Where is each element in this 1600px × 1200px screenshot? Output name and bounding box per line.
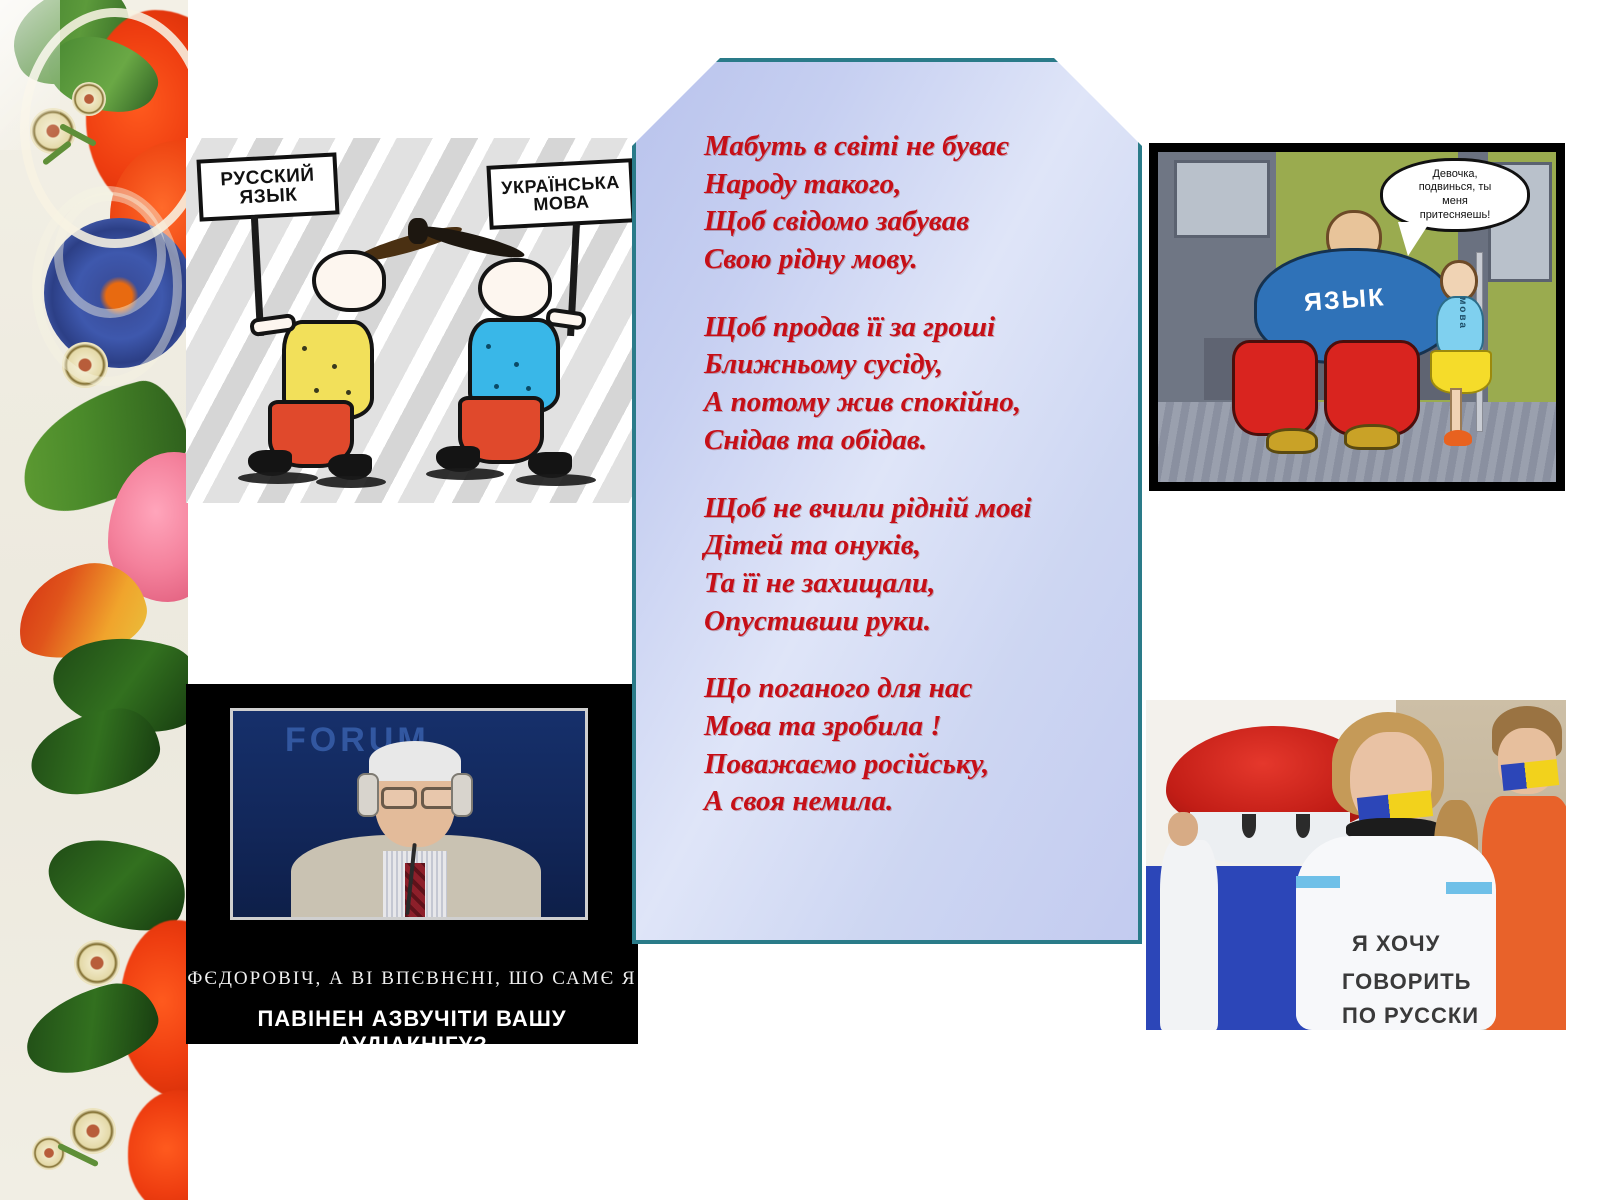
poem-callout-box: Мабуть в світі не буває Народу такого, Щ…	[632, 58, 1142, 944]
man-pants	[1232, 340, 1318, 436]
figure-shadow	[426, 468, 504, 480]
subway-language-cartoon: ЯЗЫК мова Девочка, подвинься, ты меня пр…	[1149, 143, 1565, 491]
poem-text-container: Мабуть в світі не буває Народу такого, Щ…	[636, 128, 1138, 821]
petrykivka-floral-border	[0, 0, 188, 1200]
demotivator-caption-line1: ФЄДОРОВІЧ, А ВІ ВПЄВНЄНІ, ШО САМЄ Я	[186, 968, 638, 990]
figure-shadow	[516, 474, 596, 486]
man-shoe	[1266, 428, 1318, 454]
figure-shadow	[238, 472, 318, 484]
bystander	[1160, 840, 1218, 1030]
shirt-label-yazyk: ЯЗЫК	[1303, 283, 1386, 318]
mustache-knot	[408, 218, 428, 244]
sleeve-stripe	[1296, 876, 1340, 888]
shirt-text-line2: ГОВОРИТЬ	[1342, 970, 1471, 993]
azarov-demotivator: FORUM ФЄДОРОВІЧ, А ВІ ВПЄВНЄНІ, ШО САМЄ …	[186, 684, 638, 1044]
sleeve-stripe	[1446, 882, 1492, 894]
slide-canvas: РУССКИЙ ЯЗЫК УКРАЇНСЬКА МОВА	[0, 0, 1600, 1200]
figure-head-left	[312, 250, 386, 312]
decorative-ring	[54, 192, 166, 318]
tooth-gap	[1296, 814, 1310, 838]
figure-head-right	[478, 258, 552, 320]
poem-stanza-3: Щоб не вчили рідній мові Дітей та онуків…	[704, 490, 1120, 641]
sign-ukrainian-language: УКРАЇНСЬКА МОВА	[486, 158, 634, 230]
speech-bubble-tail	[1398, 222, 1430, 256]
demotivator-caption-line2: ПАВІНЕН АЗВУЧІТИ ВАШУ АУДІАКНІГУ?	[186, 1006, 638, 1044]
poppy-flower-icon	[128, 1090, 188, 1200]
daisy-flower-icon	[70, 1108, 116, 1154]
headphone-left	[357, 773, 379, 817]
language-duel-cartoon: РУССКИЙ ЯЗЫК УКРАЇНСЬКА МОВА	[186, 138, 634, 503]
man-pants	[1324, 340, 1420, 436]
shirt-text-line3: ПО РУССКИ	[1342, 1004, 1479, 1027]
tooth-gap	[1242, 814, 1256, 838]
headphone-right	[451, 773, 473, 817]
shirt-text-line1: Я ХОЧУ	[1352, 932, 1440, 955]
girl-leg	[1450, 388, 1462, 436]
girl-shirt-label: мова	[1457, 297, 1468, 330]
poem-stanza-4: Що поганого для нас Мова та зробила ! По…	[704, 670, 1120, 821]
russian-language-protest-photo: Я ХОЧУ ГОВОРИТЬ ПО РУССКИ	[1146, 700, 1566, 1030]
daisy-flower-icon	[32, 1136, 66, 1170]
speech-bubble: Девочка, подвинься, ты меня притесняешь!	[1380, 158, 1530, 232]
poem-stanza-2: Щоб продав її за гроші Ближньому сусіду,…	[704, 309, 1120, 460]
hair	[369, 741, 461, 781]
daisy-flower-icon	[74, 940, 120, 986]
glasses-left-lens	[381, 787, 417, 809]
demotivator-photo: FORUM	[233, 711, 585, 917]
bystander-face	[1168, 812, 1198, 846]
border-highlight	[0, 0, 60, 150]
leaf-icon	[25, 703, 165, 800]
sign-russian-language: РУССКИЙ ЯЗЫК	[196, 152, 339, 221]
demotivator-photo-frame: FORUM	[230, 708, 588, 920]
man-shoe	[1344, 424, 1400, 450]
figure-shadow	[316, 476, 386, 488]
poem-stanza-1: Мабуть в світі не буває Народу такого, Щ…	[704, 128, 1120, 279]
subway-scene: ЯЗЫК мова Девочка, подвинься, ты меня пр…	[1158, 152, 1556, 482]
window	[1174, 160, 1270, 238]
girl-shoe	[1444, 430, 1472, 446]
